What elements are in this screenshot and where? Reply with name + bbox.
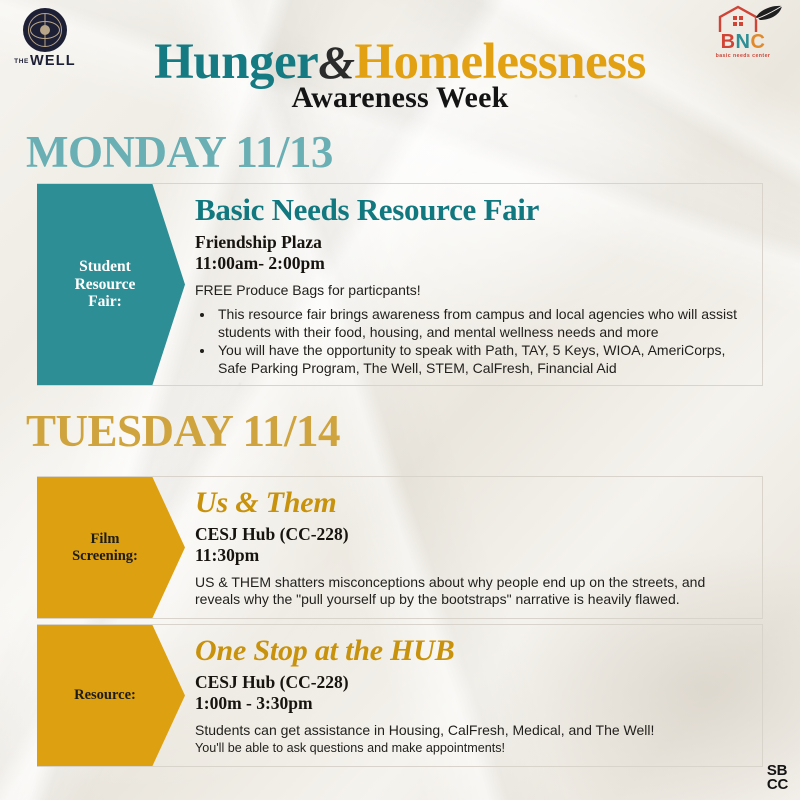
event-bullet-item: You will have the opportunity to speak w… bbox=[215, 342, 748, 377]
event-body: Basic Needs Resource Fair Friendship Pla… bbox=[185, 184, 762, 385]
event-tag-student-resource-fair: Student Resource Fair: bbox=[37, 184, 185, 385]
event-tag-resource: Resource: bbox=[37, 625, 185, 766]
tag-line-1: Film bbox=[72, 531, 138, 547]
sbcc-logo: SB CC bbox=[767, 764, 788, 792]
tag-line-2: Screening: bbox=[72, 548, 138, 564]
event-body: One Stop at the HUB CESJ Hub (CC-228) 1:… bbox=[185, 625, 762, 766]
poster-canvas: THEWELL BNC basic needs center Hunger&Ho… bbox=[0, 0, 800, 800]
event-card-film-screening[interactable]: Film Screening: Us & Them CESJ Hub (CC-2… bbox=[37, 476, 763, 619]
tag-line-1: Student bbox=[75, 258, 136, 275]
event-location: CESJ Hub (CC-228) bbox=[195, 524, 748, 545]
day-heading-tuesday: TUESDAY 11/14 bbox=[26, 409, 340, 454]
event-note: Students can get assistance in Housing, … bbox=[195, 722, 748, 740]
event-bullet-item: This resource fair brings awareness from… bbox=[215, 306, 748, 341]
poster-subtitle: Awareness Week bbox=[0, 81, 800, 115]
day-heading-monday: MONDAY 11/13 bbox=[26, 130, 333, 175]
event-bullet-list: This resource fair brings awareness from… bbox=[215, 306, 748, 377]
event-time: 11:30pm bbox=[195, 545, 748, 566]
event-note: US & THEM shatters misconceptions about … bbox=[195, 574, 748, 610]
event-card-one-stop-hub[interactable]: Resource: One Stop at the HUB CESJ Hub (… bbox=[37, 624, 763, 767]
event-tag-label: Film Screening: bbox=[72, 531, 138, 563]
event-location: Friendship Plaza bbox=[195, 232, 748, 253]
event-title: One Stop at the HUB bbox=[195, 635, 748, 667]
event-card-resource-fair[interactable]: Student Resource Fair: Basic Needs Resou… bbox=[37, 183, 763, 386]
event-tag-film-screening: Film Screening: bbox=[37, 477, 185, 618]
house-leaf-icon bbox=[698, 4, 788, 34]
sbcc-line-2: CC bbox=[767, 778, 788, 792]
tag-line-1: Resource: bbox=[74, 687, 136, 703]
event-body: Us & Them CESJ Hub (CC-228) 11:30pm US &… bbox=[185, 477, 762, 618]
event-title: Basic Needs Resource Fair bbox=[195, 194, 748, 227]
poster-title-block: Hunger&Homelessness Awareness Week bbox=[0, 36, 800, 115]
event-tag-label: Student Resource Fair: bbox=[75, 258, 136, 310]
tag-line-2: Resource bbox=[75, 276, 136, 293]
event-time: 1:00m - 3:30pm bbox=[195, 693, 748, 714]
tag-line-3: Fair: bbox=[75, 293, 136, 310]
event-location: CESJ Hub (CC-228) bbox=[195, 672, 748, 693]
event-time: 11:00am- 2:00pm bbox=[195, 253, 748, 274]
event-tag-label: Resource: bbox=[74, 687, 136, 703]
event-note-secondary: You'll be able to ask questions and make… bbox=[195, 740, 748, 756]
event-note: FREE Produce Bags for particpants! bbox=[195, 282, 748, 300]
event-title: Us & Them bbox=[195, 487, 748, 519]
